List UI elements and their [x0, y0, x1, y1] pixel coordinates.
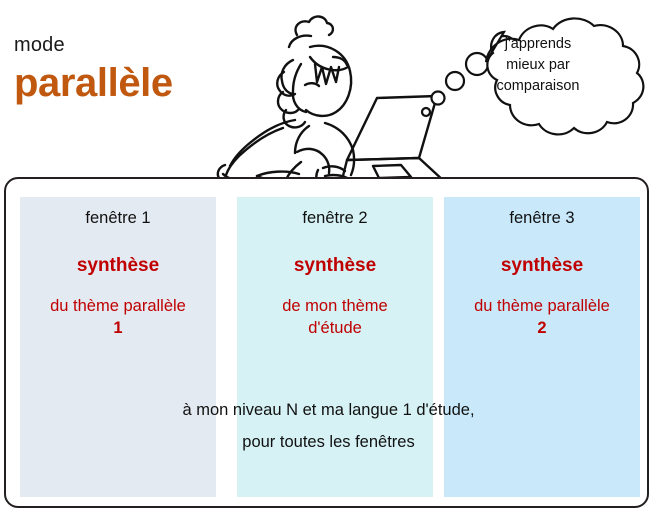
window-column-2[interactable]: fenêtre 2 synthèse de mon thème d'étude [237, 197, 433, 497]
window-column-1[interactable]: fenêtre 1 synthèse du thème parallèle 1 [20, 197, 216, 497]
header-area: mode parallèle [0, 0, 657, 177]
bubble-line-2: mieux par [462, 55, 614, 76]
title-block: mode parallèle [14, 34, 224, 104]
synthese-detail-3-line2: 2 [444, 317, 640, 339]
synthese-heading-1: synthèse [20, 255, 216, 278]
window-label-2: fenêtre 2 [237, 209, 433, 229]
window-label-3: fenêtre 3 [444, 209, 640, 229]
window-column-1-content: fenêtre 1 synthèse du thème parallèle 1 [20, 209, 216, 339]
synthese-detail-1-line2: 1 [20, 317, 216, 339]
window-column-3[interactable]: fenêtre 3 synthèse du thème parallèle 2 [444, 197, 640, 497]
synthese-detail-2-line1: de mon thème [237, 295, 433, 317]
thought-bubble-text: j'apprends mieux par comparaison [462, 34, 614, 97]
window-column-2-content: fenêtre 2 synthèse de mon thème d'étude [237, 209, 433, 339]
synthese-detail-2: de mon thème d'étude [237, 295, 433, 340]
synthese-detail-2-line2: d'étude [237, 317, 433, 339]
parallel-mode-panel: fenêtre 1 synthèse du thème parallèle 1 … [4, 177, 649, 508]
synthese-detail-3: du thème parallèle 2 [444, 295, 640, 340]
mode-label: mode [14, 34, 224, 56]
page-title: parallèle [14, 62, 224, 104]
window-label-1: fenêtre 1 [20, 209, 216, 229]
window-columns: fenêtre 1 synthèse du thème parallèle 1 … [6, 179, 651, 510]
window-column-3-content: fenêtre 3 synthèse du thème parallèle 2 [444, 209, 640, 339]
bubble-line-1: j'apprends [462, 34, 614, 55]
synthese-detail-1-line1: du thème parallèle [20, 295, 216, 317]
bubble-line-3: comparaison [462, 76, 614, 97]
synthese-heading-2: synthèse [237, 255, 433, 278]
synthese-detail-1: du thème parallèle 1 [20, 295, 216, 340]
synthese-heading-3: synthèse [444, 255, 640, 278]
synthese-detail-3-line1: du thème parallèle [444, 295, 640, 317]
